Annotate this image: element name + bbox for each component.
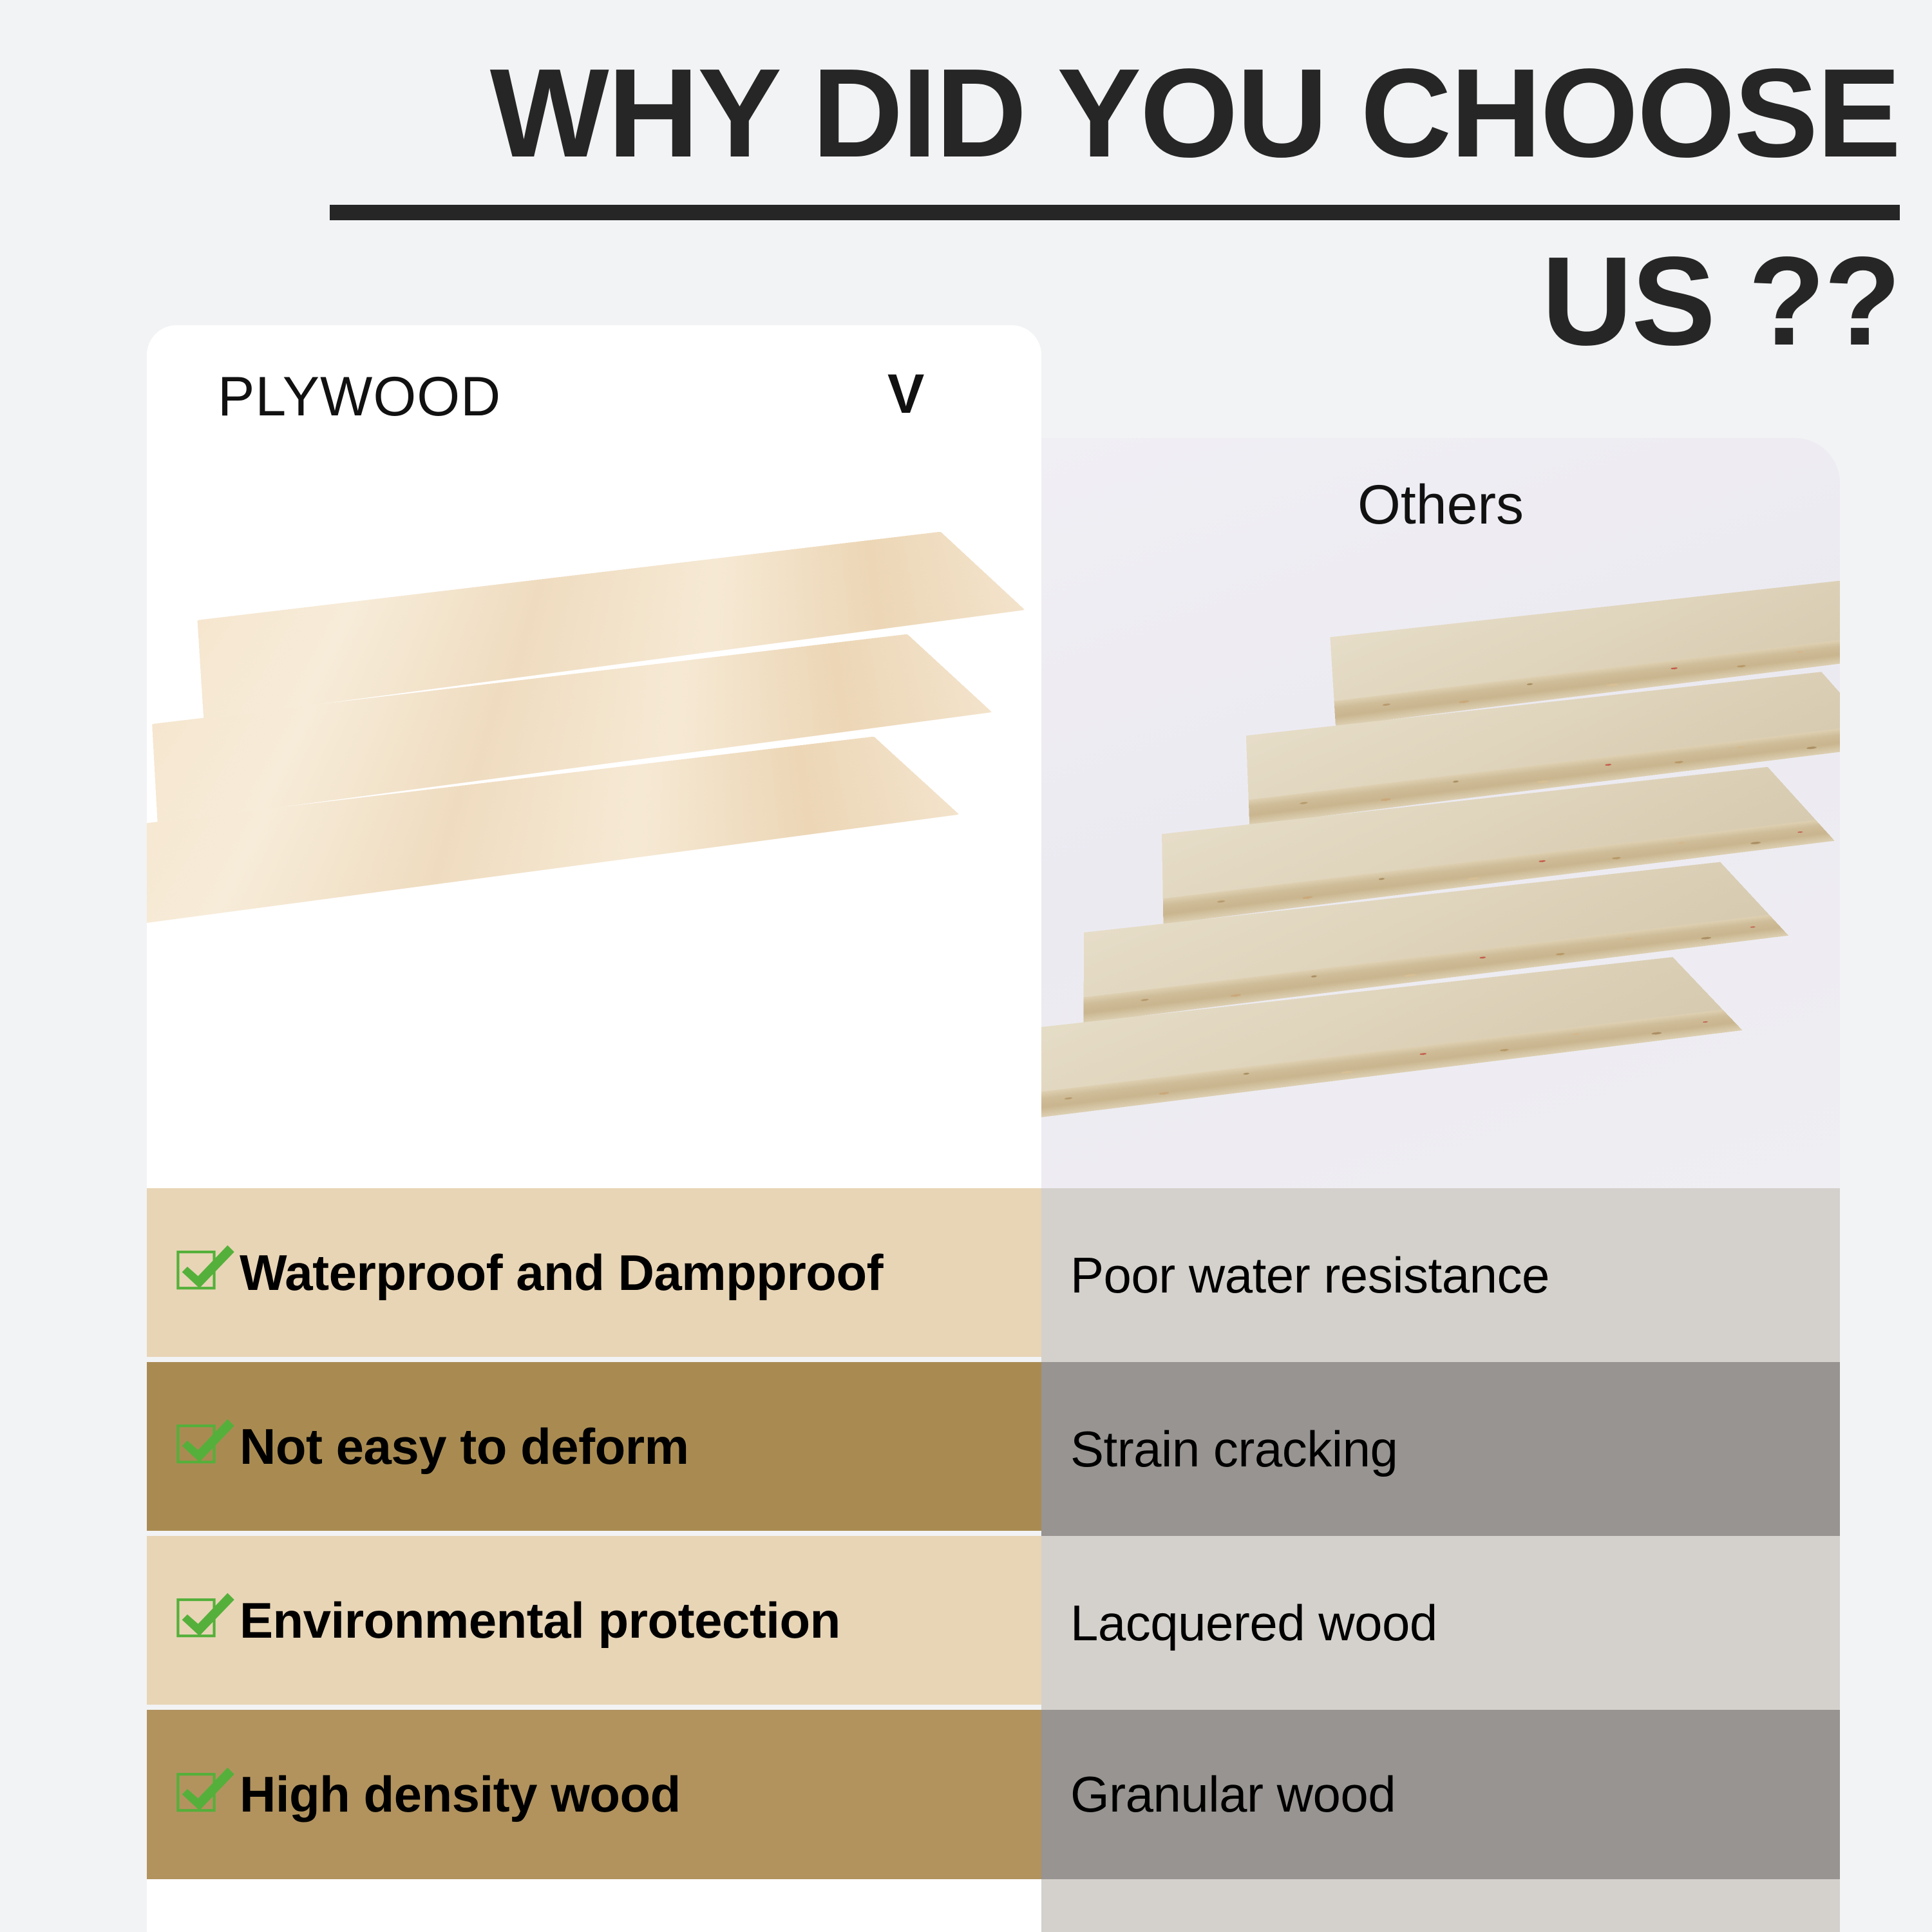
page-title-line-1: WHY DID YOU CHOOSE (0, 50, 1900, 176)
others-feature-cell: Poor water resistance (1041, 1188, 1840, 1362)
checked-box-icon (174, 1593, 229, 1648)
checked-box-icon (174, 1419, 229, 1474)
others-feature-cell: Granular wood (1041, 1710, 1840, 1879)
others-feature-label: Poor water resistance (1070, 1246, 1549, 1305)
others-feature-cell: Strain cracking (1041, 1362, 1840, 1536)
plywood-feature-label: Waterproof and Dampproof (240, 1244, 883, 1302)
plywood-feature-cell: High density wood (147, 1710, 1041, 1879)
others-feature-label: Granular wood (1070, 1765, 1396, 1824)
right-column-footer (1041, 1879, 1840, 1932)
plywood-feature-cell: Waterproof and Dampproof (147, 1188, 1041, 1357)
plywood-product-image (147, 448, 1041, 1191)
others-feature-cell: Lacquered wood (1041, 1536, 1840, 1710)
particle-board-product-image (1041, 535, 1840, 1191)
plywood-feature-label: Environmental protection (240, 1591, 840, 1650)
others-feature-label: Lacquered wood (1070, 1594, 1437, 1653)
comparison-table: Waterproof and Dampproof Poor water resi… (0, 1188, 1932, 1932)
others-panel: Others (1041, 438, 1840, 1191)
plywood-feature-label: High density wood (240, 1765, 681, 1824)
plywood-feature-cell: Environmental protection (147, 1536, 1041, 1705)
checked-box-icon (174, 1245, 229, 1300)
plywood-feature-label: Not easy to deform (240, 1417, 688, 1476)
plywood-panel: PLYWOOD V (147, 325, 1041, 1191)
plywood-feature-cell: Not easy to deform (147, 1362, 1041, 1531)
title-underline-rule (330, 205, 1900, 220)
versus-marker: V (887, 363, 924, 426)
others-feature-label: Strain cracking (1070, 1420, 1397, 1479)
checked-box-icon (174, 1767, 229, 1823)
others-panel-label: Others (1041, 473, 1840, 537)
plywood-panel-label: PLYWOOD (218, 365, 501, 429)
left-column-footer (147, 1879, 1041, 1932)
